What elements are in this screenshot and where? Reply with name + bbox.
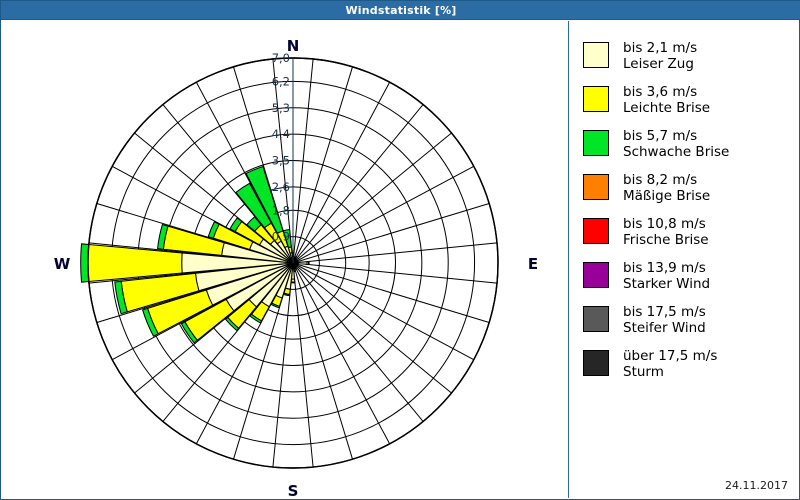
legend-item[interactable]: bis 3,6 m/sLeichte Brise bbox=[583, 85, 710, 116]
legend-speed-range: bis 3,6 m/s bbox=[623, 84, 697, 100]
legend-item[interactable]: bis 10,8 m/sFrische Brise bbox=[583, 217, 709, 248]
legend-color-swatch bbox=[583, 350, 609, 376]
legend-speed-range: über 17,5 m/s bbox=[623, 348, 717, 364]
legend-item[interactable]: über 17,5 m/sSturm bbox=[583, 349, 717, 380]
legend-beaufort-name: Schwache Brise bbox=[623, 145, 729, 161]
legend-speed-range: bis 8,2 m/s bbox=[623, 172, 697, 188]
legend-item[interactable]: bis 5,7 m/sSchwache Brise bbox=[583, 129, 729, 160]
legend-speed-range: bis 2,1 m/s bbox=[623, 40, 697, 56]
legend-speed-range: bis 13,9 m/s bbox=[623, 260, 706, 276]
radial-tick-label: 2,6 bbox=[272, 180, 290, 194]
radial-tick-label: 0,9 bbox=[272, 230, 290, 244]
legend-beaufort-name: Frische Brise bbox=[623, 233, 709, 249]
compass-label-south: S bbox=[288, 482, 299, 498]
legend-color-swatch bbox=[583, 306, 609, 332]
legend-beaufort-name: Sturm bbox=[623, 365, 717, 381]
legend-color-swatch bbox=[583, 130, 609, 156]
legend-item[interactable]: bis 17,5 m/sSteifer Wind bbox=[583, 305, 706, 336]
compass-label-east: E bbox=[528, 255, 538, 273]
radial-tick-label: 1,8 bbox=[272, 203, 290, 217]
legend-label: bis 5,7 m/sSchwache Brise bbox=[623, 129, 729, 160]
legend-speed-range: bis 17,5 m/s bbox=[623, 304, 706, 320]
legend-label: bis 13,9 m/sStarker Wind bbox=[623, 261, 710, 292]
legend-color-swatch bbox=[583, 86, 609, 112]
legend-beaufort-name: Mäßige Brise bbox=[623, 189, 710, 205]
compass-label-north: N bbox=[287, 37, 300, 55]
radial-tick-labels: 0,91,82,63,54,45,36,27,0 bbox=[272, 51, 293, 263]
legend-beaufort-name: Steifer Wind bbox=[623, 321, 706, 337]
wind-petal-segment bbox=[295, 257, 296, 258]
wind-rose-svg: 0,91,82,63,54,45,36,27,0 N E S W bbox=[2, 21, 568, 498]
radial-tick-label: 4,4 bbox=[272, 127, 290, 141]
content-panel: 0,91,82,63,54,45,36,27,0 N E S W bis 2,1… bbox=[2, 21, 798, 498]
legend-label: bis 17,5 m/sSteifer Wind bbox=[623, 305, 706, 336]
compass-label-west: W bbox=[54, 255, 71, 273]
windstatistik-window: Windstatistik [%] 0,91,82,63,54,45,36,27… bbox=[0, 0, 800, 500]
legend-beaufort-name: Leiser Zug bbox=[623, 57, 697, 73]
radial-tick-label: 6,2 bbox=[272, 74, 290, 88]
legend-panel: bis 2,1 m/sLeiser Zugbis 3,6 m/sLeichte … bbox=[568, 21, 798, 498]
legend-item[interactable]: bis 8,2 m/sMäßige Brise bbox=[583, 173, 710, 204]
legend-label: bis 8,2 m/sMäßige Brise bbox=[623, 173, 710, 204]
legend-label: bis 10,8 m/sFrische Brise bbox=[623, 217, 709, 248]
legend-beaufort-name: Starker Wind bbox=[623, 277, 710, 293]
legend-item[interactable]: bis 2,1 m/sLeiser Zug bbox=[583, 41, 697, 72]
window-title: Windstatistik [%] bbox=[345, 1, 456, 20]
legend-label: bis 2,1 m/sLeiser Zug bbox=[623, 41, 697, 72]
legend-speed-range: bis 10,8 m/s bbox=[623, 216, 706, 232]
wind-petal-segment bbox=[295, 259, 296, 260]
legend-color-swatch bbox=[583, 262, 609, 288]
legend-beaufort-name: Leichte Brise bbox=[623, 101, 710, 117]
wind-rose-plot: 0,91,82,63,54,45,36,27,0 N E S W bbox=[2, 21, 568, 498]
title-bar-edge bbox=[1, 19, 800, 20]
legend-label: bis 3,6 m/sLeichte Brise bbox=[623, 85, 710, 116]
wind-petal-segment bbox=[291, 282, 295, 283]
radial-tick-label: 3,5 bbox=[272, 154, 290, 168]
legend-color-swatch bbox=[583, 174, 609, 200]
wind-petal-segment bbox=[308, 262, 309, 265]
legend-label: über 17,5 m/sSturm bbox=[623, 349, 717, 380]
window-title-bar: Windstatistik [%] bbox=[1, 1, 800, 20]
date-stamp: 24.11.2017 bbox=[725, 479, 788, 492]
legend-speed-range: bis 5,7 m/s bbox=[623, 128, 697, 144]
legend-color-swatch bbox=[583, 42, 609, 68]
legend-item[interactable]: bis 13,9 m/sStarker Wind bbox=[583, 261, 710, 292]
legend-color-swatch bbox=[583, 218, 609, 244]
radial-tick-label: 5,3 bbox=[272, 101, 290, 115]
